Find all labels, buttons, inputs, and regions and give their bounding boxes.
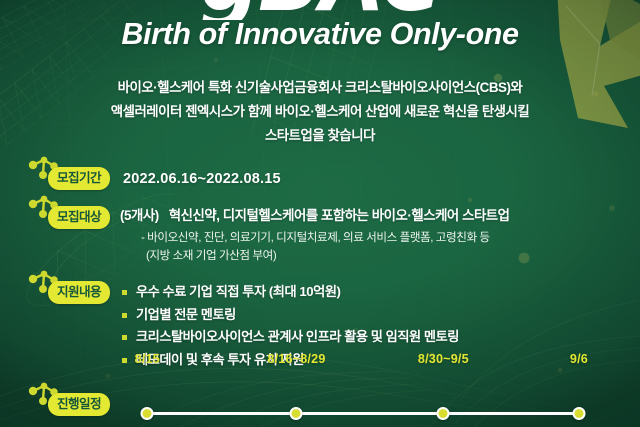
timeline-label: 8/16~8/29 <box>267 352 325 366</box>
list-item: 크리스탈바이오사이언스 관계사 인프라 활용 및 임직원 멘토링 <box>122 326 459 349</box>
intro-line-2: 액셀러레이터 젠엑시스가 함께 바이오·헬스케어 산업에 새로운 혁신을 탄생시… <box>58 100 582 124</box>
recruitment-target-body: (5개사)혁신신약, 디지털헬스케어를 포함하는 바이오·헬스케어 스타트업 -… <box>120 206 510 264</box>
timeline-label: 9/6 <box>570 352 588 366</box>
recruitment-target-sub-2: (지방 소재 기업 가산점 부여) <box>120 247 510 265</box>
section-support-details: 지원내용 우수 수료 기업 직접 투자 (최대 10억원) 기업별 전문 멘토링… <box>48 281 459 371</box>
list-item: 우수 수료 기업 직접 투자 (최대 10억원) <box>122 281 459 304</box>
timeline-label: 8/15 <box>135 352 160 366</box>
recruitment-target-main: (5개사)혁신신약, 디지털헬스케어를 포함하는 바이오·헬스케어 스타트업 <box>120 206 510 226</box>
recruitment-target-sub-1: - 바이오신약, 진단, 의료기기, 디지털치료제, 의료 서비스 플랫폼, 고… <box>120 229 510 247</box>
tagline: Birth of Innovative Only-one <box>0 17 640 52</box>
timeline-dot <box>290 407 303 420</box>
timeline-dot <box>141 407 154 420</box>
section-recruitment-period: 모집기간 2022.06.16~2022.08.15 <box>48 167 281 190</box>
badge-recruitment-period: 모집기간 <box>48 167 110 190</box>
section-schedule: 진행일정 <box>48 393 110 416</box>
badge-support-details: 지원내용 <box>48 281 110 304</box>
schedule-timeline: 8/15 8/16~8/29 8/30~9/5 9/6 <box>136 386 588 424</box>
intro-paragraph: 바이오·헬스케어 특화 신기술사업금융회사 크리스탈바이오사이언스(CBS)와 … <box>58 76 582 148</box>
timeline-track <box>143 412 581 415</box>
intro-line-1: 바이오·헬스케어 특화 신기술사업금융회사 크리스탈바이오사이언스(CBS)와 <box>58 76 582 100</box>
badge-recruitment-target: 모집대상 <box>48 206 110 229</box>
recruitment-target-count: (5개사) <box>120 208 159 223</box>
list-item: 기업별 전문 멘토링 <box>122 304 459 327</box>
recruitment-period-value: 2022.06.16~2022.08.15 <box>123 167 281 190</box>
timeline-dot <box>572 407 585 420</box>
section-recruitment-target: 모집대상 (5개사)혁신신약, 디지털헬스케어를 포함하는 바이오·헬스케어 스… <box>48 206 510 264</box>
badge-schedule: 진행일정 <box>48 393 110 416</box>
recruitment-target-text: 혁신신약, 디지털헬스케어를 포함하는 바이오·헬스케어 스타트업 <box>169 208 510 223</box>
timeline-dot <box>437 407 450 420</box>
intro-line-3: 스타트업을 찾습니다 <box>58 124 582 148</box>
poster-canvas: gBAC Birth of Innovative Only-one 바이오·헬스… <box>0 0 640 427</box>
timeline-label: 8/30~9/5 <box>418 352 469 366</box>
